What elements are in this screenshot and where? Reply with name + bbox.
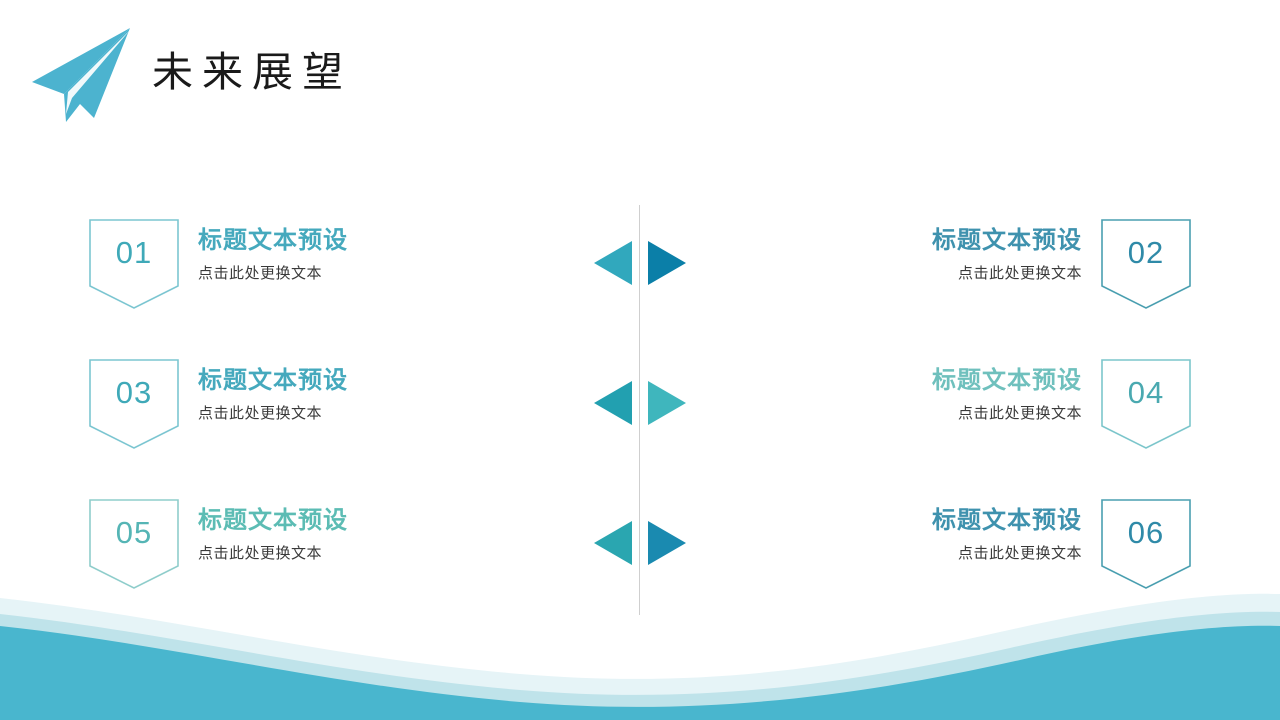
- list-item-02[interactable]: 02 标题文本预设 点击此处更换文本: [932, 218, 1192, 318]
- number-badge: 06: [1100, 498, 1192, 590]
- item-text-block: 标题文本预设 点击此处更换文本: [932, 498, 1082, 564]
- item-subtitle: 点击此处更换文本: [198, 402, 348, 424]
- item-title: 标题文本预设: [198, 504, 348, 536]
- item-text-block: 标题文本预设 点击此处更换文本: [198, 498, 348, 564]
- item-title: 标题文本预设: [198, 364, 348, 396]
- bottom-wave-decoration: [0, 580, 1280, 720]
- content-row: 01 标题文本预设 点击此处更换文本 02 标: [0, 218, 1280, 318]
- arrow-right-icon: [648, 521, 686, 565]
- item-title: 标题文本预设: [932, 504, 1082, 536]
- number-badge: 04: [1100, 358, 1192, 450]
- arrow-right-icon: [648, 241, 686, 285]
- number-badge: 01: [88, 218, 180, 310]
- item-subtitle: 点击此处更换文本: [198, 542, 348, 564]
- badge-number: 06: [1100, 498, 1192, 568]
- arrow-pair: [594, 380, 686, 426]
- item-title: 标题文本预设: [932, 364, 1082, 396]
- list-item-04[interactable]: 04 标题文本预设 点击此处更换文本: [932, 358, 1192, 458]
- item-title: 标题文本预设: [932, 224, 1082, 256]
- item-subtitle: 点击此处更换文本: [932, 542, 1082, 564]
- badge-number: 05: [88, 498, 180, 568]
- item-text-block: 标题文本预设 点击此处更换文本: [932, 358, 1082, 424]
- item-text-block: 标题文本预设 点击此处更换文本: [198, 358, 348, 424]
- list-item-01[interactable]: 01 标题文本预设 点击此处更换文本: [88, 218, 348, 318]
- item-title: 标题文本预设: [198, 224, 348, 256]
- item-subtitle: 点击此处更换文本: [932, 262, 1082, 284]
- list-item-03[interactable]: 03 标题文本预设 点击此处更换文本: [88, 358, 348, 458]
- slide-canvas: 未来展望 01 标题文本预设 点击此处更换文本: [0, 0, 1280, 720]
- item-subtitle: 点击此处更换文本: [198, 262, 348, 284]
- badge-number: 03: [88, 358, 180, 428]
- number-badge: 02: [1100, 218, 1192, 310]
- content-row: 03 标题文本预设 点击此处更换文本 04 标: [0, 358, 1280, 458]
- arrow-left-icon: [594, 521, 632, 565]
- item-subtitle: 点击此处更换文本: [932, 402, 1082, 424]
- number-badge: 03: [88, 358, 180, 450]
- badge-number: 01: [88, 218, 180, 288]
- badge-number: 04: [1100, 358, 1192, 428]
- arrow-pair: [594, 240, 686, 286]
- arrow-left-icon: [594, 381, 632, 425]
- badge-number: 02: [1100, 218, 1192, 288]
- number-badge: 05: [88, 498, 180, 590]
- arrow-pair: [594, 520, 686, 566]
- item-text-block: 标题文本预设 点击此处更换文本: [198, 218, 348, 284]
- arrow-right-icon: [648, 381, 686, 425]
- arrow-left-icon: [594, 241, 632, 285]
- item-text-block: 标题文本预设 点击此处更换文本: [932, 218, 1082, 284]
